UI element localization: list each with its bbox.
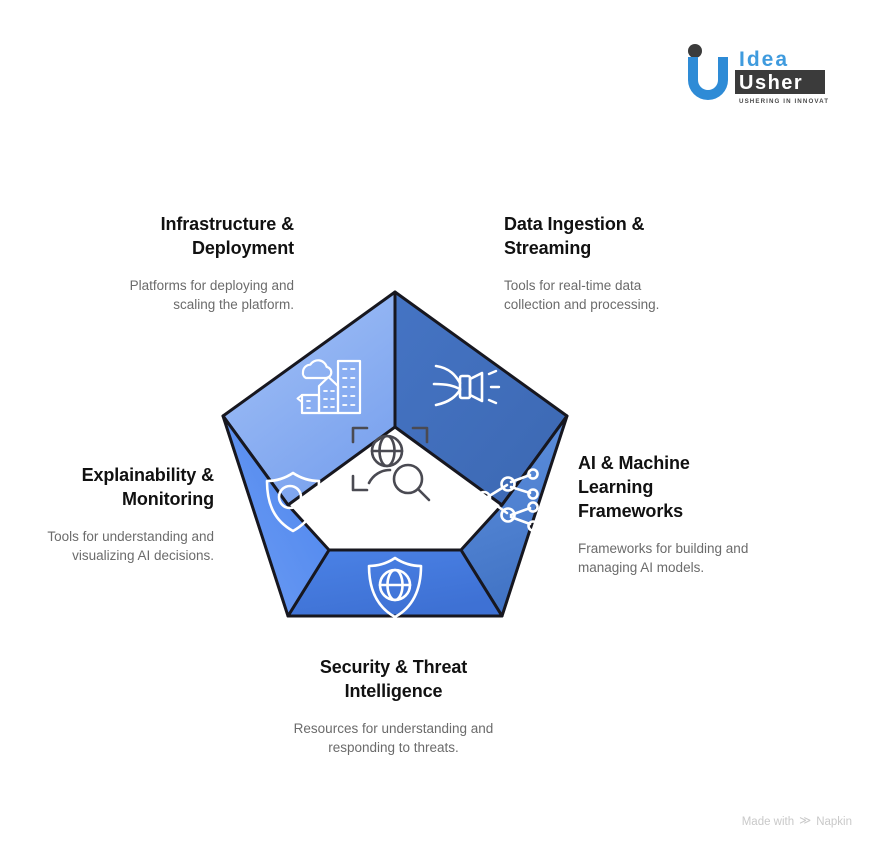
label-ai-machine-learning-frameworks: AI & Machine Learning Frameworks Framewo… (578, 452, 750, 577)
diagram-canvas: Idea Usher USHERING IN INNOVATION Infras… (0, 0, 880, 850)
label-title: AI & Machine Learning Frameworks (578, 452, 750, 524)
watermark-product: Napkin (816, 816, 852, 828)
segmented-pentagon-diagram (196, 275, 596, 640)
logo-tagline: USHERING IN INNOVATION (739, 98, 828, 105)
label-description: Tools for understanding and visualizing … (36, 527, 214, 565)
logo-u-mark (688, 57, 728, 100)
label-description: Frameworks for building and managing AI … (578, 539, 750, 577)
label-description: Resources for understanding and respondi… (291, 719, 496, 757)
label-title: Explainability & Monitoring (36, 464, 214, 512)
label-title: Data Ingestion & Streaming (504, 213, 694, 261)
label-security-threat-intelligence: Security & Threat Intelligence Resources… (291, 656, 496, 757)
logo-dot (688, 44, 702, 58)
label-title: Infrastructure & Deployment (109, 213, 294, 261)
napkin-watermark: Made with ≫ Napkin (742, 816, 852, 828)
watermark-prefix: Made with (742, 816, 794, 828)
napkin-logo-icon: ≫ (799, 816, 811, 828)
logo-idea-text: Idea (739, 48, 789, 71)
idea-usher-logo: Idea Usher USHERING IN INNOVATION (682, 40, 828, 108)
label-title: Security & Threat Intelligence (291, 656, 496, 704)
label-explainability-monitoring: Explainability & Monitoring Tools for un… (36, 464, 214, 565)
logo-usher-text: Usher (739, 72, 803, 94)
